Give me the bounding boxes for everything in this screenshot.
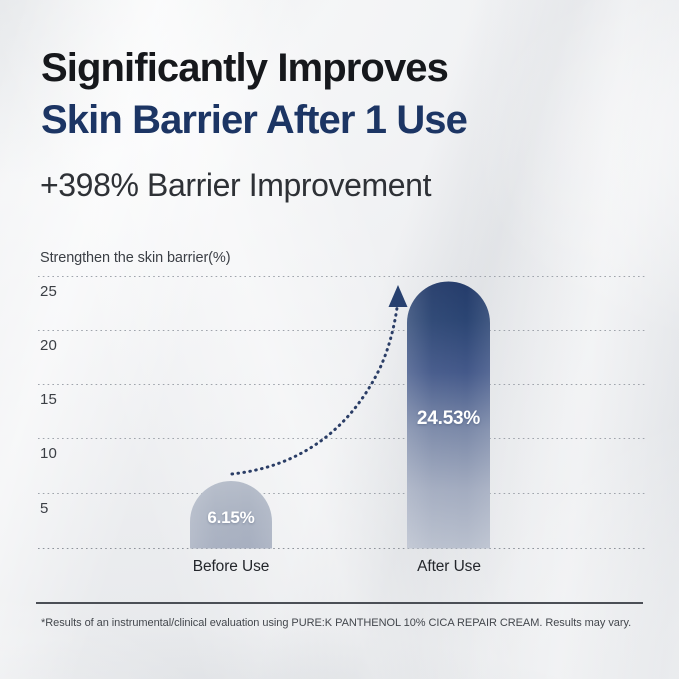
category-label-after-use: After Use	[379, 558, 519, 576]
infographic-poster: Significantly Improves Skin Barrier Afte…	[0, 0, 679, 679]
chart-graphics	[0, 0, 679, 679]
y-tick-15: 15	[40, 391, 57, 408]
gridlines	[38, 277, 645, 494]
bar-value-before-use: 6.15%	[190, 508, 272, 528]
y-tick-20: 20	[40, 337, 57, 354]
bar-chart: Strengthen the skin barrier(%)	[0, 0, 679, 679]
y-tick-5: 5	[40, 500, 48, 517]
y-tick-10: 10	[40, 445, 57, 462]
growth-arrow-icon	[232, 285, 408, 474]
footnote-divider	[36, 602, 643, 604]
bar-value-after-use: 24.53%	[407, 408, 490, 430]
category-label-before-use: Before Use	[161, 558, 301, 576]
poster-content: Significantly Improves Skin Barrier Afte…	[0, 0, 679, 679]
footnote-text: *Results of an instrumental/clinical eva…	[41, 616, 651, 631]
y-tick-25: 25	[40, 283, 57, 300]
